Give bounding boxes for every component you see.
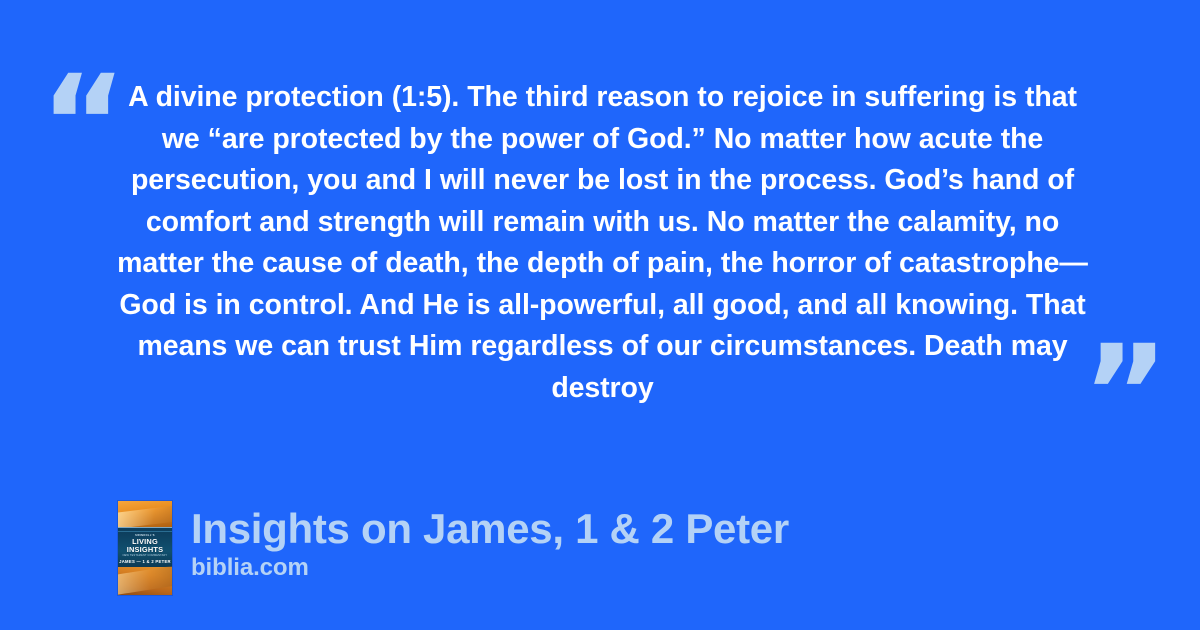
site-name: biblia.com [191,554,789,582]
quote-text: A divine protection (1:5). The third rea… [110,77,1095,409]
close-quote-mark-icon: ” [1082,328,1169,460]
footer-text-group: Insights on James, 1 & 2 Peter biblia.co… [191,501,789,582]
cover-top-art [118,501,172,527]
quote-block: “ A divine protection (1:5). The third r… [0,40,1200,430]
book-cover-thumbnail: SWINDOLL’S LIVING INSIGHTS NEW TESTAMENT… [118,501,172,595]
cover-title-band: SWINDOLL’S LIVING INSIGHTS NEW TESTAMENT… [118,532,172,567]
book-title: Insights on James, 1 & 2 Peter [191,505,789,552]
cover-volume: JAMES — 1 & 2 PETER [118,558,172,565]
quote-card: “ A divine protection (1:5). The third r… [0,0,1200,630]
cover-series-line-2: INSIGHTS [118,546,172,554]
attribution-footer: SWINDOLL’S LIVING INSIGHTS NEW TESTAMENT… [118,501,789,595]
cover-bottom-art [118,567,172,595]
